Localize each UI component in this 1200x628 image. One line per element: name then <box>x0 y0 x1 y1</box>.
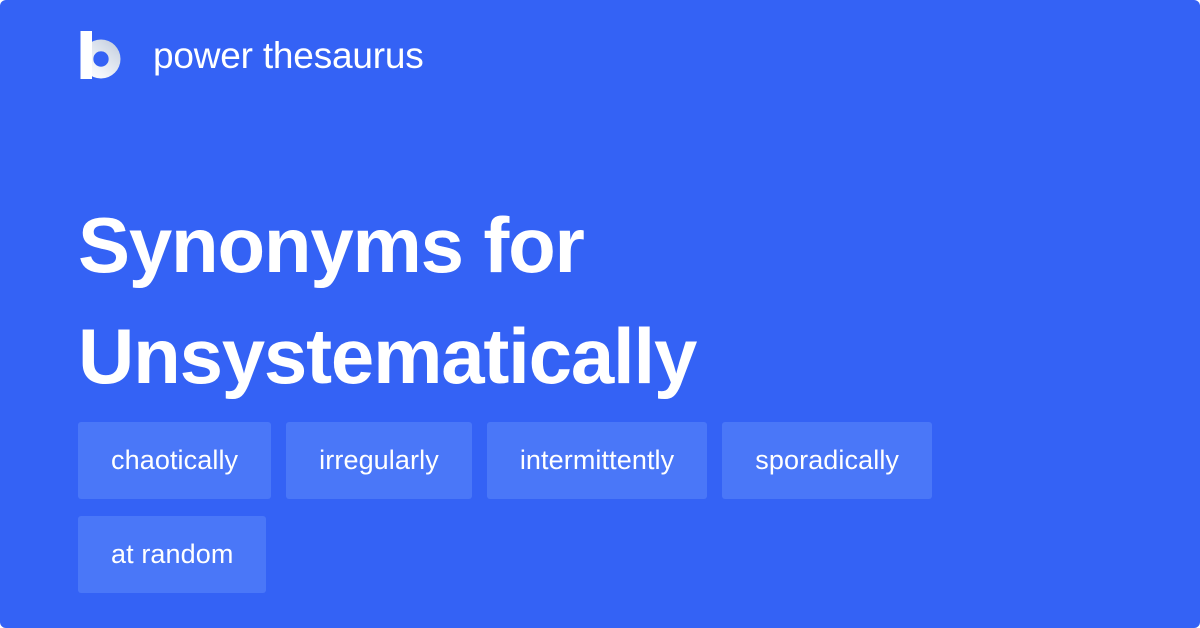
synonym-chip[interactable]: irregularly <box>286 422 472 499</box>
synonym-chip-list: chaotically irregularly intermittently s… <box>78 422 1122 593</box>
power-thesaurus-b-logo-icon <box>78 31 124 79</box>
synonym-chip[interactable]: intermittently <box>487 422 707 499</box>
synonym-chip[interactable]: at random <box>78 516 266 593</box>
synonym-chip[interactable]: chaotically <box>78 422 271 499</box>
synonyms-share-card: Power Thesaurus Synonyms for Unsystemati… <box>0 0 1200 628</box>
page-title: Synonyms for Unsystematically <box>78 190 1118 412</box>
brand-name: Power Thesaurus <box>153 37 424 74</box>
page-title-line-1: Synonyms for <box>78 190 1118 301</box>
brand-header[interactable]: Power Thesaurus <box>78 27 424 83</box>
synonym-chip[interactable]: sporadically <box>722 422 932 499</box>
page-title-line-2: Unsystematically <box>78 301 1118 412</box>
